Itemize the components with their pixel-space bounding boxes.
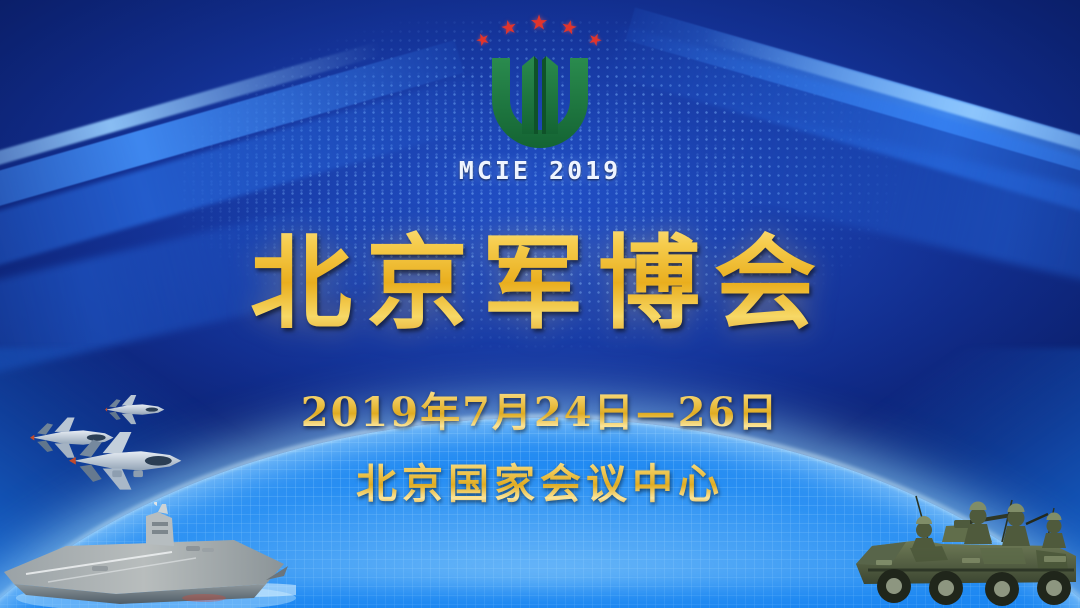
five-stars-arc: ★ ★ ★ ★ ★ <box>470 16 610 50</box>
poster-canvas: ★ ★ ★ ★ ★ <box>0 0 1080 608</box>
star-icon: ★ <box>585 30 604 49</box>
fighter-jets <box>8 388 228 498</box>
aircraft-carrier <box>0 502 296 608</box>
star-icon: ★ <box>499 18 519 38</box>
star-icon: ★ <box>473 30 492 49</box>
event-logo: ★ ★ ★ ★ ★ <box>0 16 1080 196</box>
page-title: 北京军博会 <box>0 202 1080 349</box>
mcie-green-emblem-icon <box>478 48 602 152</box>
jet-rear <box>105 395 164 424</box>
logo-wordmark: MCIE 2019 <box>459 156 621 185</box>
armored-vehicle <box>850 490 1080 608</box>
star-icon: ★ <box>559 18 579 38</box>
star-icon: ★ <box>530 14 549 33</box>
jet-mid <box>30 417 114 457</box>
